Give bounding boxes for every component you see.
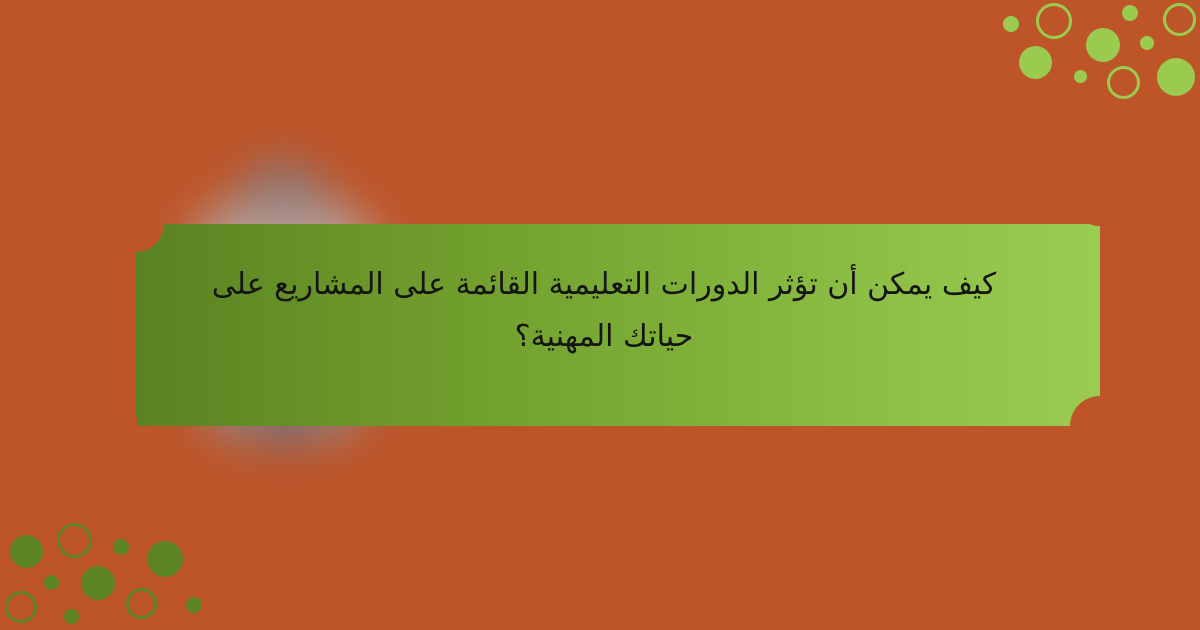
question-text: كيف يمكن أن تؤثر الدورات التعليمية القائ… [164,259,1044,364]
circle-tiny-solid-icon [1140,36,1154,50]
circle-large-solid-icon [81,566,115,600]
corner-notch-top-left [108,196,138,226]
circle-large-solid-icon [1086,28,1120,62]
circle-tiny-solid-2-icon [1074,70,1087,83]
circle-ring-small-icon [1107,66,1140,99]
circle-large-solid-3-icon [1157,58,1195,96]
circle-tiny-solid-icon [113,539,129,555]
corner-notch-bottom-left [108,396,138,426]
circle-tiny-solid-3-icon [64,609,79,624]
circle-ring-medium-icon [57,523,92,558]
corner-notch-top-right [1070,196,1100,226]
question-banner: كيف يمكن أن تؤثر الدورات التعليمية القائ… [108,196,1100,426]
circle-large-solid-2-icon [1019,46,1052,79]
circle-ring-small-icon [5,591,37,623]
circle-tiny-solid-2-icon [44,575,59,590]
circle-small-solid-2-icon [1122,5,1138,21]
circle-small-solid-icon [1003,16,1019,32]
circle-ring-small-2-icon [126,588,157,619]
circle-medium-solid-2-icon [147,541,183,577]
circle-tiny-solid-4-icon [186,597,202,613]
corner-notch-bottom-right [1070,396,1100,426]
circle-ring-medium-2-icon [1163,3,1196,36]
decorative-circles-bottom-left [0,505,250,630]
circle-medium-solid-icon [10,535,43,568]
circle-ring-medium-icon [1036,3,1072,39]
decorative-circles-top-right [970,0,1200,115]
